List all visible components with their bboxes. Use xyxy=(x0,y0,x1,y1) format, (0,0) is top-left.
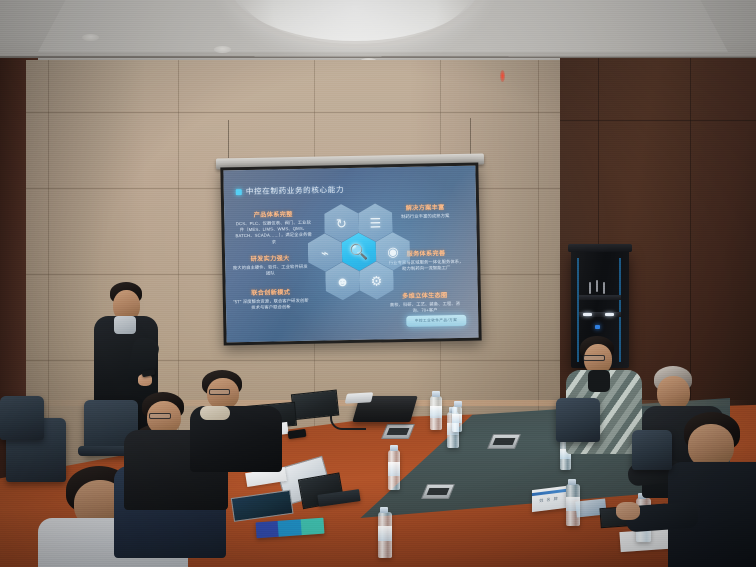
capability-heading: 产品体系完整 xyxy=(234,209,312,219)
bottle-cap xyxy=(390,445,398,451)
laptop-lid xyxy=(291,390,339,421)
chair-right-2 xyxy=(632,430,672,470)
glasses-icon xyxy=(149,413,171,419)
slide-title-row: 中控在制药业务的核心能力 xyxy=(236,184,345,197)
network-node-icon: ⌁ xyxy=(321,246,329,259)
capability-innovation: 联合创新模式 "5T" 深度整合资源，联合客户研发创新技术与客户联合创新 xyxy=(232,287,310,312)
attendee-left-back xyxy=(196,370,286,460)
capability-body: "5T" 深度整合资源，联合客户研发创新技术与客户联合创新 xyxy=(232,298,310,312)
slide-badge: 中控工业软件产品/方案 xyxy=(406,315,467,327)
attendee-head xyxy=(657,376,690,410)
presentation-slide: 中控在制药业务的核心能力 产品体系完整 DCS、PLC、仪器仪表、阀门、工业软件… xyxy=(223,166,478,343)
bottle-label xyxy=(430,406,442,418)
glasses-icon xyxy=(209,389,230,395)
capability-rnd: 研发实力强大 庞大的自主硬件、软件、工业软件研发团队 xyxy=(231,253,309,278)
capability-products: 产品体系完整 DCS、PLC、仪器仪表、阀门、工业软件（MES、LIMS、WMS… xyxy=(234,209,313,246)
rack-led-status xyxy=(595,325,600,329)
rack-top-cap xyxy=(568,244,632,252)
water-bottle-4 xyxy=(378,512,392,558)
attendee-hand xyxy=(616,502,640,520)
downlight-1 xyxy=(82,34,99,41)
wall-seam-vertical xyxy=(48,60,49,480)
laser-pointer-dot xyxy=(500,70,505,82)
bottle-label xyxy=(566,497,580,511)
slide-title: 中控在制药业务的核心能力 xyxy=(246,184,345,197)
bottle-cap xyxy=(454,401,462,407)
projector-lens xyxy=(345,392,374,403)
antenna-3 xyxy=(603,282,605,294)
capability-heading: 研发实力强大 xyxy=(231,253,309,263)
projector-screen-surface: 中控在制药业务的核心能力 产品体系完整 DCS、PLC、仪器仪表、阀门、工业软件… xyxy=(223,166,478,343)
attendee-collar-fur xyxy=(200,406,230,420)
antenna-1 xyxy=(589,282,591,294)
bottle-label xyxy=(388,462,400,476)
recycle-icon: ↻ xyxy=(336,217,347,230)
bottle-label xyxy=(452,414,462,423)
projector-screen-frame[interactable]: 中控在制药业务的核心能力 产品体系完整 DCS、PLC、仪器仪表、阀门、工业软件… xyxy=(220,163,481,346)
presenter-shirt-collar xyxy=(114,316,136,334)
water-bottle-5 xyxy=(566,484,580,526)
chair-empty-3 xyxy=(0,396,44,440)
hexagon-cluster: ↻ ☰ ⌁ 🔍 ◉ ☻ xyxy=(302,203,402,315)
name-tent-card: 姓 名 牌 xyxy=(532,486,566,512)
magnifier-icon: 🔍 xyxy=(349,244,368,259)
attendee-right-front xyxy=(678,412,756,567)
water-bottle-3 xyxy=(388,450,400,490)
capability-body: 庞大的自主硬件、软件、工业软件研发团队 xyxy=(231,264,309,278)
chair-armrest-1 xyxy=(78,446,130,456)
bottle-cap xyxy=(568,479,576,485)
bottle-label xyxy=(378,526,392,542)
laptop-back[interactable] xyxy=(291,390,337,418)
conference-room-photo: 中控在制药业务的核心能力 产品体系完整 DCS、PLC、仪器仪表、阀门、工业软件… xyxy=(0,0,756,567)
water-bottle-8 xyxy=(452,406,462,432)
wall-seam xyxy=(26,112,572,113)
rack-led-2 xyxy=(605,313,614,316)
people-group-icon: ⚙ xyxy=(371,274,383,287)
rack-shelf-1 xyxy=(579,295,621,300)
attendee-inner-shirt xyxy=(588,370,610,392)
downlight-2 xyxy=(214,46,231,53)
support-chat-icon: ☻ xyxy=(336,275,350,288)
capability-body: DCS、PLC、仪器仪表、阀门、工业软件（MES、LIMS、WMS、QMS、BA… xyxy=(234,220,312,246)
title-bullet-icon xyxy=(236,189,242,195)
bottle-cap xyxy=(432,391,440,397)
tent-card-name: 姓 名 牌 xyxy=(532,495,566,505)
wall-seam xyxy=(560,120,756,121)
screen-chain-left xyxy=(228,120,229,158)
layers-icon: ☰ xyxy=(369,216,381,229)
capability-heading: 联合创新模式 xyxy=(232,287,310,297)
eye-icon: ◉ xyxy=(387,245,399,258)
rack-led-1 xyxy=(583,313,592,316)
water-bottle-1 xyxy=(430,396,442,430)
antenna-2 xyxy=(596,280,598,292)
glasses-icon xyxy=(583,355,605,361)
chair-right-1 xyxy=(556,398,600,442)
bottle-cap xyxy=(380,507,388,513)
